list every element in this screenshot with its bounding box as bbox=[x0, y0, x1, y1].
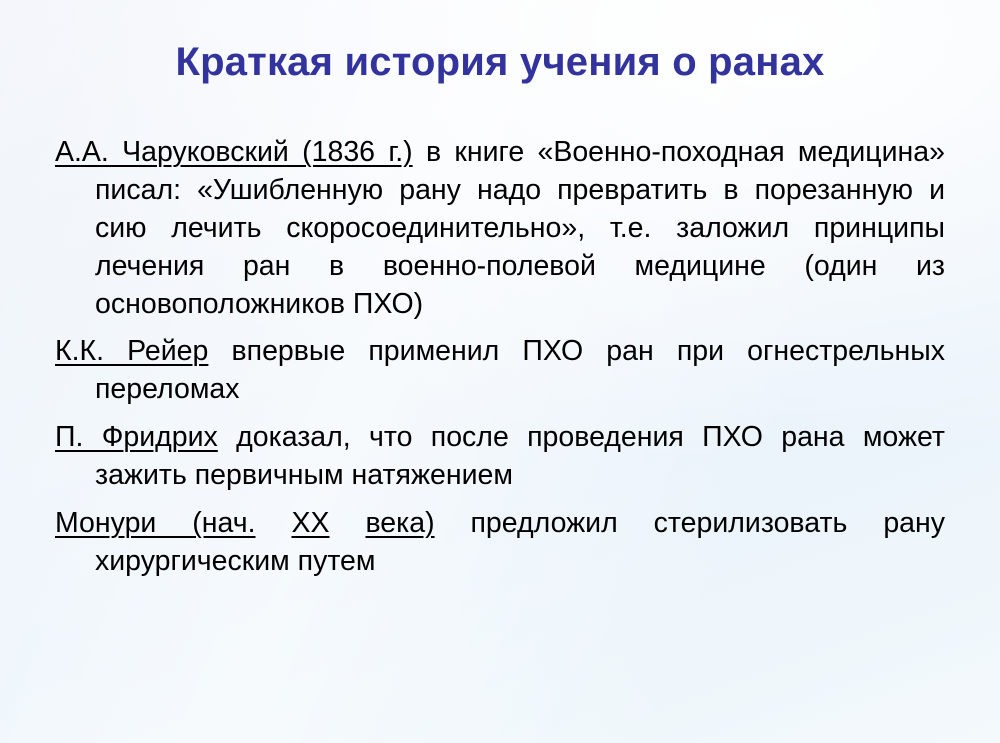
paragraph-fridrih: П. Фридрих доказал, что после проведения… bbox=[55, 418, 945, 494]
paragraph-monuri: Монури (нач. XX века) предложил стерилиз… bbox=[55, 504, 945, 580]
lead-in-reyer: К.К. Рейер bbox=[55, 335, 208, 367]
paragraph-reyer: К.К. Рейер впервые применил ПХО ран при … bbox=[55, 332, 945, 408]
lead-in-monuri-part-1: Монури (нач. bbox=[55, 507, 256, 539]
presentation-slide: Краткая история учения о ранах А.А. Чару… bbox=[0, 0, 1000, 743]
slide-title: Краткая история учения о ранах bbox=[0, 40, 1000, 85]
paragraph-text-fridrih: доказал, что после проведения ПХО рана м… bbox=[95, 421, 945, 491]
lead-in-monuri-part-2: XX bbox=[291, 507, 329, 539]
lead-in-fridrih: П. Фридрих bbox=[55, 421, 218, 453]
paragraph-charukovsky: А.А. Чаруковский (1836 г.) в книге «Воен… bbox=[55, 133, 945, 323]
lead-in-charukovsky: А.А. Чаруковский (1836 г.) bbox=[55, 136, 413, 168]
slide-body: А.А. Чаруковский (1836 г.) в книге «Воен… bbox=[55, 133, 945, 580]
paragraph-text-reyer: впервые применил ПХО ран при огнестрельн… bbox=[95, 335, 945, 405]
lead-in-monuri-part-3: века) bbox=[365, 507, 434, 539]
